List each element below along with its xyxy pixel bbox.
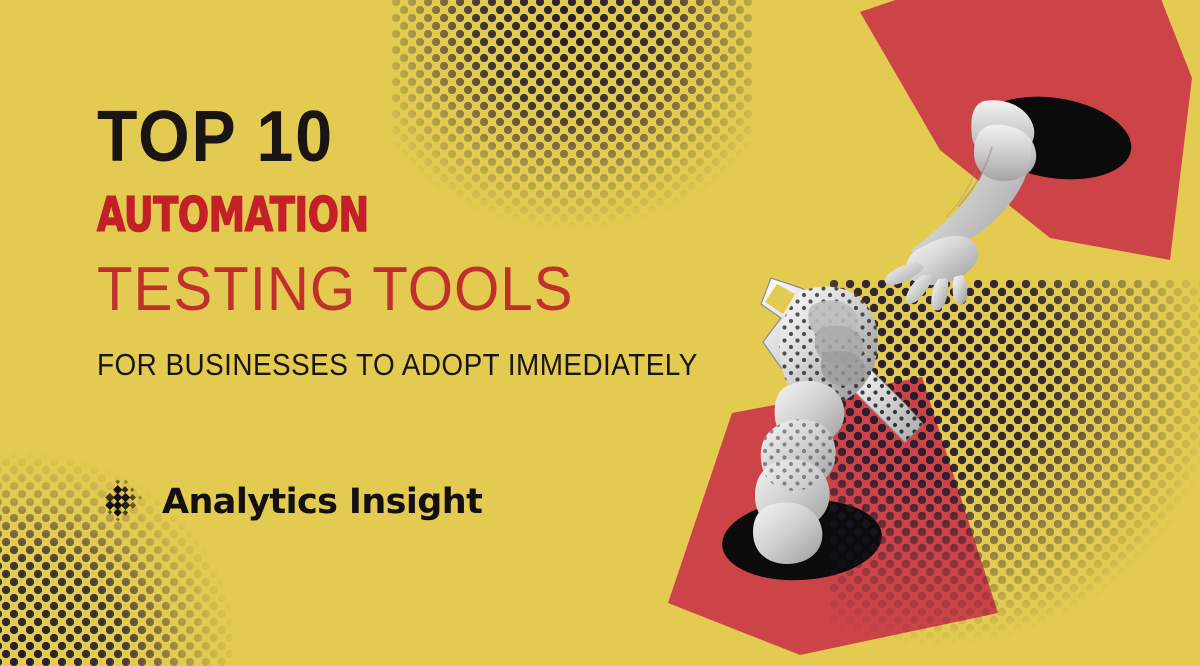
headline-line-top10: TOP 10: [97, 104, 612, 170]
headline-subtitle: FOR BUSINESSES TO ADOPT IMMEDIATELY: [97, 349, 601, 380]
headline-line-testing-tools: TESTING TOOLS: [97, 259, 623, 321]
brand-name: Analytics Insight: [162, 482, 482, 522]
fist-holding-wrench-arm: [755, 272, 1005, 572]
headline-line-automation: AUTOMATION: [97, 192, 534, 239]
headline-block: TOP 10 AUTOMATION TESTING TOOLS FOR BUSI…: [97, 104, 657, 380]
diamond-grid-icon: [100, 478, 148, 526]
halftone-bottom-left: [0, 418, 232, 666]
poster-canvas: TOP 10 AUTOMATION TESTING TOOLS FOR BUSI…: [0, 0, 1200, 666]
brand-logo[interactable]: Analytics Insight: [100, 478, 482, 526]
